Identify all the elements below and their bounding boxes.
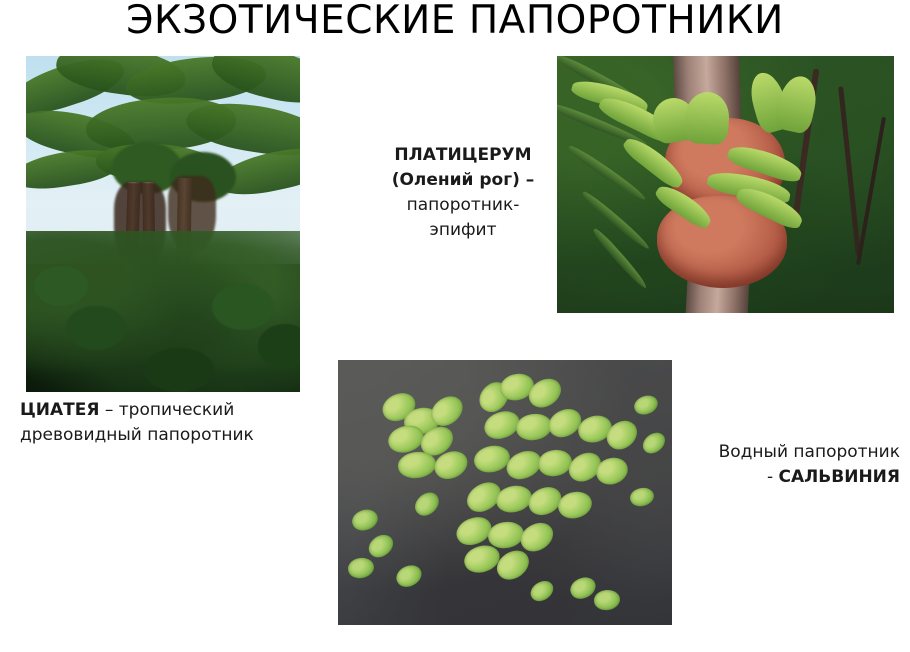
photo-platycerium (557, 56, 894, 313)
caption-cyathea: ЦИАТЕЯ – тропический древовидный папорот… (20, 398, 320, 448)
page-title: ЭКЗОТИЧЕСКИЕ ПАПОРОТНИКИ (0, 0, 910, 44)
platycerium-desc-line2: эпифит (338, 218, 588, 243)
photo-cyathea (26, 56, 300, 392)
salvinia-line2: - САЛЬВИНИЯ (676, 465, 900, 490)
foliage-clump (212, 284, 274, 330)
caption-platycerium: ПЛАТИЦЕРУМ (Олений рог) – папоротник- эп… (338, 143, 588, 243)
platycerium-desc-line1: папоротник- (338, 193, 588, 218)
caption-salvinia: Водный папоротник - САЛЬВИНИЯ (676, 440, 900, 490)
salvinia-dash: - (767, 467, 779, 487)
platycerium-name-line2: (Олений рог) – (338, 168, 588, 193)
cyathea-desc-line1: – тропический (99, 400, 234, 420)
foliage-clump (66, 306, 126, 350)
platycerium-name-line1: ПЛАТИЦЕРУМ (338, 143, 588, 168)
salvinia-name: САЛЬВИНИЯ (779, 467, 900, 487)
cyathea-name: ЦИАТЕЯ (20, 400, 99, 420)
salvinia-desc-line1: Водный папоротник (676, 440, 900, 465)
cyathea-desc-line2: древовидный папоротник (20, 423, 320, 448)
cyathea-line1: ЦИАТЕЯ – тропический (20, 398, 320, 423)
photo-salvinia (338, 360, 672, 625)
slide-canvas: ЭКЗОТИЧЕСКИЕ ПАПОРОТНИКИ (0, 0, 910, 652)
foliage-clump (34, 266, 88, 306)
foliage-clump (144, 348, 214, 392)
